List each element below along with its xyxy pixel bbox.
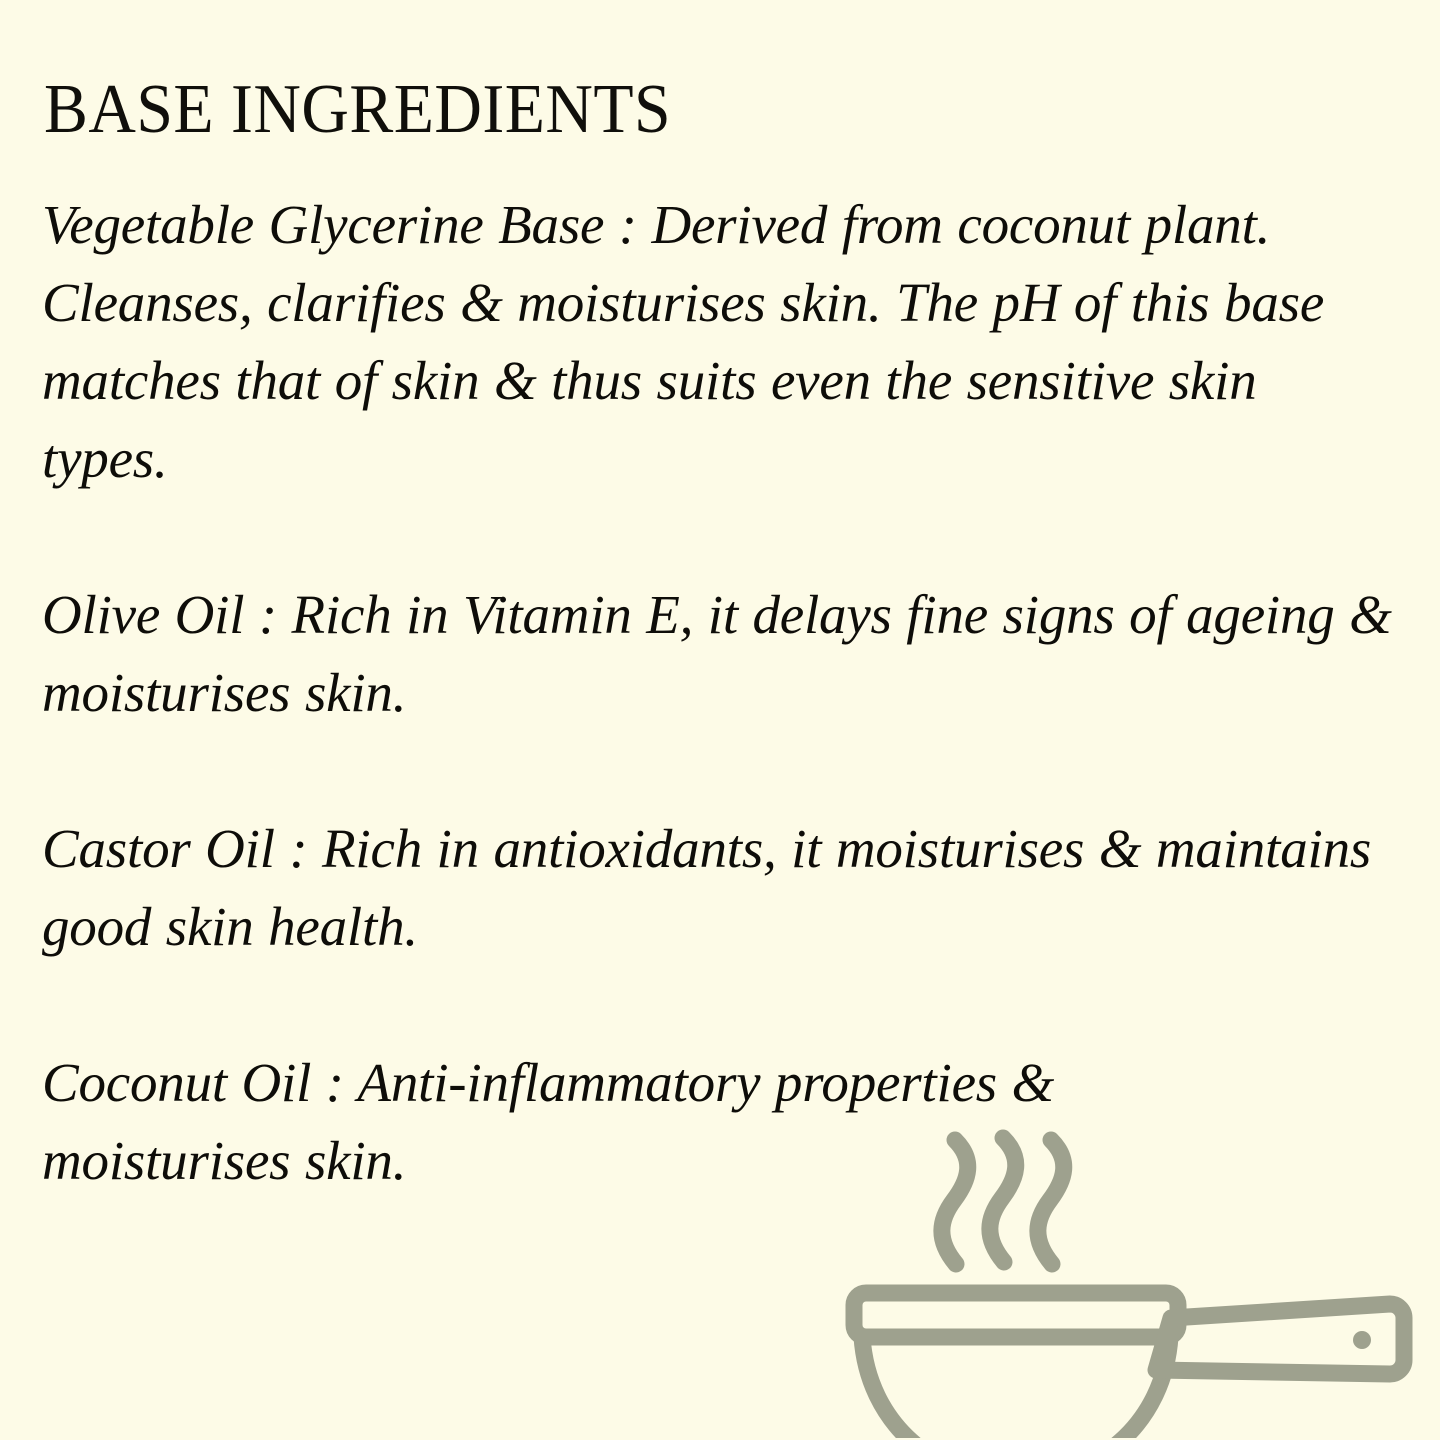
ingredient-item-castor-oil: Castor Oil : Rich in antioxidants, it mo… <box>42 810 1372 966</box>
ingredient-item-vegetable-glycerine-base: Vegetable Glycerine Base : Derived from … <box>42 186 1372 498</box>
pan-bowl <box>862 1337 1170 1438</box>
poster-canvas: BASE INGREDIENTS Vegetable Glycerine Bas… <box>0 0 1440 1440</box>
ingredients-list: Vegetable Glycerine Base : Derived from … <box>42 186 1412 1200</box>
ingredient-item-coconut-oil: Coconut Oil : Anti-inflammatory properti… <box>42 1044 1287 1200</box>
page-title: BASE INGREDIENTS <box>44 69 1304 151</box>
pan-handle <box>1156 1304 1404 1374</box>
pan-rim <box>854 1293 1178 1337</box>
ingredient-item-olive-oil: Olive Oil : Rich in Vitamin E, it delays… <box>42 576 1402 732</box>
pan-handle-hole <box>1353 1331 1371 1349</box>
